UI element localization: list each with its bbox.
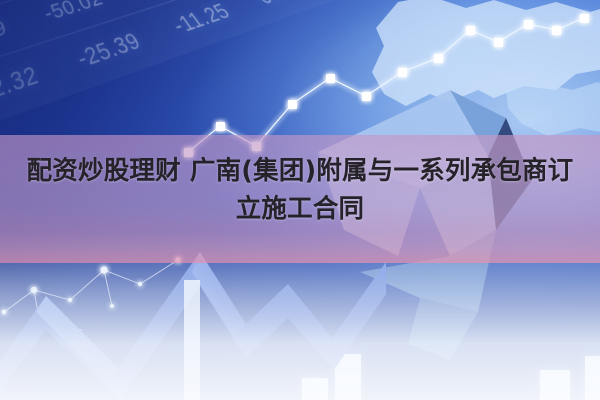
headline-line-1: 配资炒股理财 广南(集团)附属与一系列承包商订 bbox=[27, 156, 574, 186]
banner-image: -0.92 -05.35 -11.25 21.36 -98.02 -09.33 … bbox=[0, 0, 600, 400]
headline-line-2: 立施工合同 bbox=[8, 190, 592, 228]
headline-text: 配资炒股理财 广南(集团)附属与一系列承包商订 立施工合同 bbox=[0, 152, 600, 228]
